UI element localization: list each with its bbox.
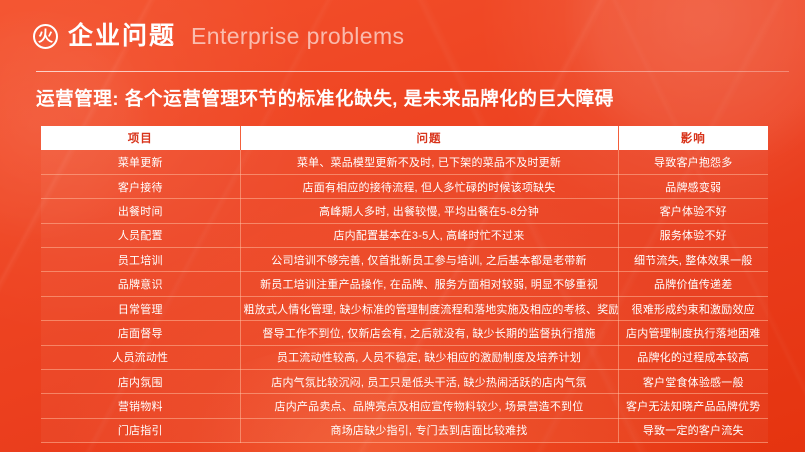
table-row: 品牌意识 新员工培训注重产品操作, 在品牌、服务方面相对较弱, 明显不够重视 品… — [41, 272, 768, 296]
table-row: 门店指引 商场店缺少指引, 专门去到店面比较难找 导致一定的客户流失 — [41, 418, 768, 442]
fire-icon-glyph: 火 — [38, 29, 53, 44]
cell-issue: 店内产品卖点、品牌亮点及相应宣传物料较少, 场景营造不到位 — [240, 394, 618, 418]
slide-canvas: 火 企业问题 Enterprise problems 运营管理: 各个运营管理环… — [0, 0, 805, 452]
cell-impact: 品牌价值传递差 — [618, 272, 768, 296]
table-row: 菜单更新 菜单、菜品模型更新不及时, 已下架的菜品不及时更新 导致客户抱怨多 — [41, 150, 768, 174]
cell-issue: 公司培训不够完善, 仅首批新员工参与培训, 之后基本都是老带新 — [240, 248, 618, 272]
issues-table: 项目 问题 影响 菜单更新 菜单、菜品模型更新不及时, 已下架的菜品不及时更新 … — [41, 126, 768, 443]
cell-issue: 粗放式人情化管理, 缺少标准的管理制度流程和落地实施及相应的考核、奖励、惩罚标准 — [240, 296, 618, 320]
cell-item: 出餐时间 — [41, 199, 240, 223]
cell-item: 营销物料 — [41, 394, 240, 418]
cell-item: 日常管理 — [41, 296, 240, 320]
table-body: 菜单更新 菜单、菜品模型更新不及时, 已下架的菜品不及时更新 导致客户抱怨多 客… — [41, 150, 768, 443]
cell-impact: 品牌感变弱 — [618, 174, 768, 198]
cell-issue: 高峰期人多时, 出餐较慢, 平均出餐在5-8分钟 — [240, 199, 618, 223]
cell-item: 门店指引 — [41, 418, 240, 442]
cell-impact: 客户堂食体验感一般 — [618, 370, 768, 394]
page-subtitle: Enterprise problems — [191, 25, 404, 48]
table-row: 店面督导 督导工作不到位, 仅新店会有, 之后就没有, 缺少长期的监督执行措施 … — [41, 321, 768, 345]
cell-impact: 品牌化的过程成本较高 — [618, 345, 768, 369]
cell-impact: 客户体验不好 — [618, 199, 768, 223]
cell-item: 菜单更新 — [41, 150, 240, 174]
cell-issue: 员工流动性较高, 人员不稳定, 缺少相应的激励制度及培养计划 — [240, 345, 618, 369]
cell-issue: 店内气氛比较沉闷, 员工只是低头干活, 缺少热闹活跃的店内气氛 — [240, 370, 618, 394]
cell-item: 客户接待 — [41, 174, 240, 198]
fire-circle-icon: 火 — [33, 24, 58, 49]
column-header-issue: 问题 — [240, 126, 618, 150]
column-header-impact: 影响 — [618, 126, 768, 150]
table-row: 店内氛围 店内气氛比较沉闷, 员工只是低头干活, 缺少热闹活跃的店内气氛 客户堂… — [41, 370, 768, 394]
cell-issue: 店面有相应的接待流程, 但人多忙碌的时候该项缺失 — [240, 174, 618, 198]
cell-item: 人员配置 — [41, 223, 240, 247]
table-header: 项目 问题 影响 — [41, 126, 768, 150]
table-row: 出餐时间 高峰期人多时, 出餐较慢, 平均出餐在5-8分钟 客户体验不好 — [41, 199, 768, 223]
table-row: 营销物料 店内产品卖点、品牌亮点及相应宣传物料较少, 场景营造不到位 客户无法知… — [41, 394, 768, 418]
cell-item: 人员流动性 — [41, 345, 240, 369]
cell-issue: 店内配置基本在3-5人, 高峰时忙不过来 — [240, 223, 618, 247]
cell-item: 品牌意识 — [41, 272, 240, 296]
table-row: 员工培训 公司培训不够完善, 仅首批新员工参与培训, 之后基本都是老带新 细节流… — [41, 248, 768, 272]
cell-impact: 店内管理制度执行落地困难 — [618, 321, 768, 345]
cell-impact: 客户无法知晓产品品牌优势 — [618, 394, 768, 418]
cell-impact: 很难形成约束和激励效应 — [618, 296, 768, 320]
cell-issue: 督导工作不到位, 仅新店会有, 之后就没有, 缺少长期的监督执行措施 — [240, 321, 618, 345]
cell-impact: 导致客户抱怨多 — [618, 150, 768, 174]
cell-issue: 新员工培训注重产品操作, 在品牌、服务方面相对较弱, 明显不够重视 — [240, 272, 618, 296]
cell-item: 店面督导 — [41, 321, 240, 345]
table-row: 客户接待 店面有相应的接待流程, 但人多忙碌的时候该项缺失 品牌感变弱 — [41, 174, 768, 198]
issues-table-container: 项目 问题 影响 菜单更新 菜单、菜品模型更新不及时, 已下架的菜品不及时更新 … — [41, 126, 768, 443]
slide-header: 火 企业问题 Enterprise problems — [0, 0, 805, 72]
cell-impact: 服务体验不好 — [618, 223, 768, 247]
table-header-row: 项目 问题 影响 — [41, 126, 768, 150]
page-title: 企业问题 — [68, 24, 176, 49]
cell-item: 员工培训 — [41, 248, 240, 272]
cell-item: 店内氛围 — [41, 370, 240, 394]
table-row: 人员流动性 员工流动性较高, 人员不稳定, 缺少相应的激励制度及培养计划 品牌化… — [41, 345, 768, 369]
cell-issue: 商场店缺少指引, 专门去到店面比较难找 — [240, 418, 618, 442]
cell-impact: 细节流失, 整体效果一般 — [618, 248, 768, 272]
cell-impact: 导致一定的客户流失 — [618, 418, 768, 442]
section-title: 运营管理: 各个运营管理环节的标准化缺失, 是未来品牌化的巨大障碍 — [36, 88, 614, 110]
table-row: 人员配置 店内配置基本在3-5人, 高峰时忙不过来 服务体验不好 — [41, 223, 768, 247]
column-header-item: 项目 — [41, 126, 240, 150]
cell-issue: 菜单、菜品模型更新不及时, 已下架的菜品不及时更新 — [240, 150, 618, 174]
table-row: 日常管理 粗放式人情化管理, 缺少标准的管理制度流程和落地实施及相应的考核、奖励… — [41, 296, 768, 320]
header-divider — [36, 71, 789, 72]
